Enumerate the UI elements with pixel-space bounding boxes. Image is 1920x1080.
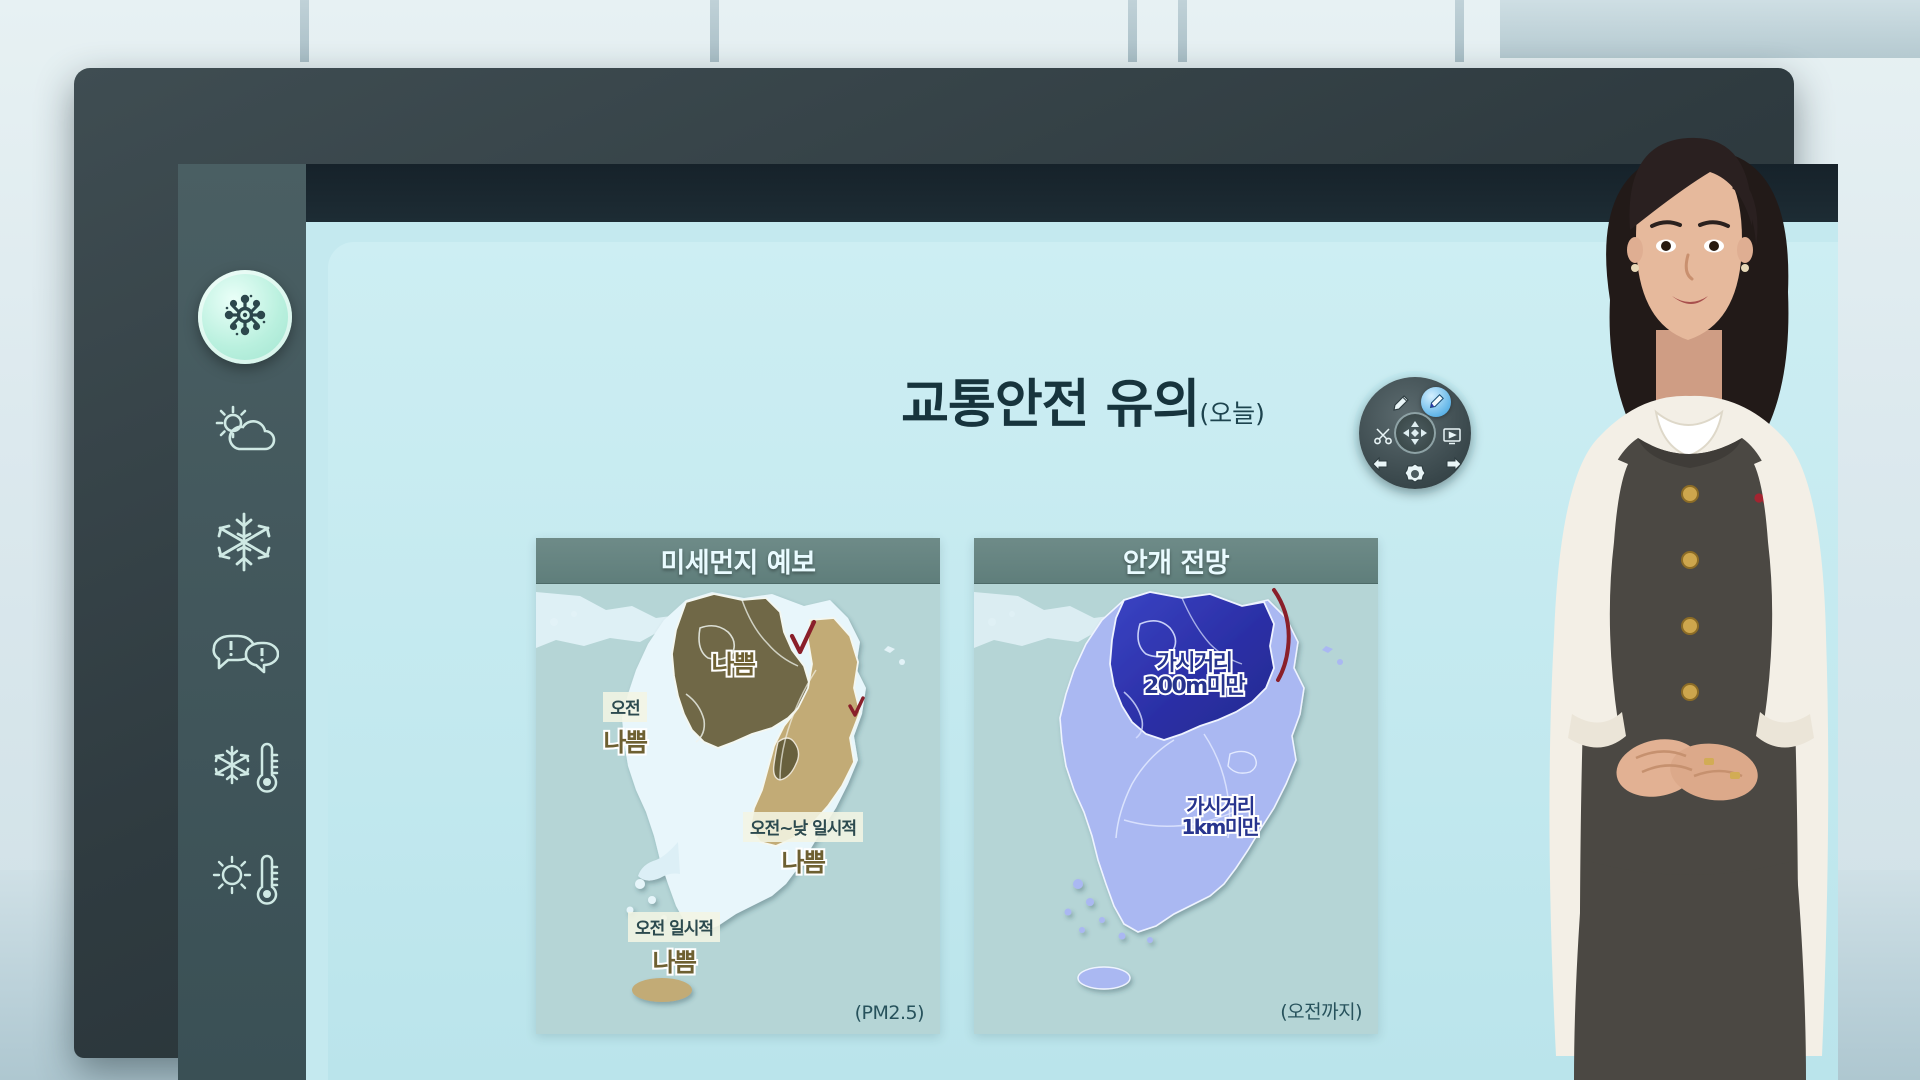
- gear-icon[interactable]: [1400, 459, 1430, 489]
- panel-dust-forecast: 미세먼지 예보: [536, 538, 940, 1034]
- panel-fog-header: 안개 전망: [974, 538, 1378, 584]
- sun-cloud-icon: [209, 403, 279, 461]
- tv-frame: 교통안전 유의(오늘): [74, 68, 1794, 1058]
- arrow-left-icon[interactable]: [1365, 449, 1395, 479]
- sidebar-item-dust[interactable]: [198, 270, 292, 364]
- screen-content: 교통안전 유의(오늘): [178, 164, 1838, 1080]
- sun-thermometer-icon: [207, 847, 281, 909]
- fog-label-1km-line1: 가시거리: [1120, 796, 1320, 817]
- dust-panel-note: (PM2.5): [855, 1002, 924, 1024]
- backdrop-pillar: [710, 0, 719, 62]
- snowflake-icon: [211, 509, 277, 575]
- dust-label-west-morning: 오전 나쁨: [564, 692, 686, 759]
- fog-label-200m-line1: 가시거리: [1094, 652, 1294, 675]
- dust-label-central: 나쁨: [678, 644, 788, 681]
- fog-label-200m-line2: 200m미만: [1094, 675, 1294, 698]
- dust-label-southeast: 오전~낮 일시적 나쁨: [718, 812, 888, 879]
- dust-region-jeju[interactable]: [632, 978, 692, 1002]
- page-title-main: 교통안전 유의: [901, 375, 1199, 435]
- tv-screen: 교통안전 유의(오늘): [178, 164, 1838, 1080]
- panel-fog-body: 가시거리 200m미만 가시거리 1km미만 (오전까지): [974, 584, 1378, 1034]
- backdrop-pillar: [1128, 0, 1137, 62]
- alert-speech-bubbles-icon: [209, 626, 279, 682]
- sidebar-icon-rail[interactable]: [178, 164, 306, 1080]
- sidebar-item-snow[interactable]: [196, 496, 292, 588]
- sidebar-item-weather[interactable]: [196, 386, 292, 478]
- fog-label-under-200m: 가시거리 200m미만: [1094, 652, 1294, 699]
- fog-region-jeju[interactable]: [1078, 967, 1130, 989]
- screen-top-band: [178, 164, 1838, 222]
- pencil-highlight-icon[interactable]: [1421, 387, 1451, 417]
- dust-label-jeju: 오전 일시적 나쁨: [592, 912, 756, 979]
- sidebar-item-cold-wave[interactable]: [196, 720, 292, 812]
- fog-label-1km-line2: 1km미만: [1120, 817, 1320, 838]
- panel-dust-header: 미세먼지 예보: [536, 538, 940, 584]
- sidebar-item-alert[interactable]: [196, 608, 292, 700]
- page-title-sub: (오늘): [1199, 399, 1265, 428]
- snowflake-thermometer-icon: [207, 735, 281, 797]
- fog-label-under-1km: 가시거리 1km미만: [1120, 796, 1320, 838]
- backdrop-beam: [1500, 0, 1920, 58]
- backdrop-pillar: [300, 0, 309, 62]
- presentation-icon[interactable]: [1437, 421, 1467, 451]
- radial-menu[interactable]: [1359, 377, 1471, 489]
- backdrop-pillar: [1178, 0, 1187, 62]
- dust-particle-icon: [219, 289, 271, 345]
- arrow-right-icon[interactable]: [1439, 449, 1469, 479]
- page-title: 교통안전 유의(오늘): [328, 362, 1838, 437]
- sidebar-item-heat-wave[interactable]: [196, 832, 292, 924]
- backdrop-pillar: [1455, 0, 1464, 62]
- content-board: 교통안전 유의(오늘): [328, 242, 1838, 1080]
- panel-fog-outlook: 안개 전망: [974, 538, 1378, 1034]
- panel-dust-body: 나쁨 오전 나쁨 오전~낮 일시적 나쁨 오전 일시적 나쁨: [536, 584, 940, 1034]
- fog-panel-note: (오전까지): [1280, 997, 1362, 1024]
- dpad-icon[interactable]: [1394, 412, 1436, 454]
